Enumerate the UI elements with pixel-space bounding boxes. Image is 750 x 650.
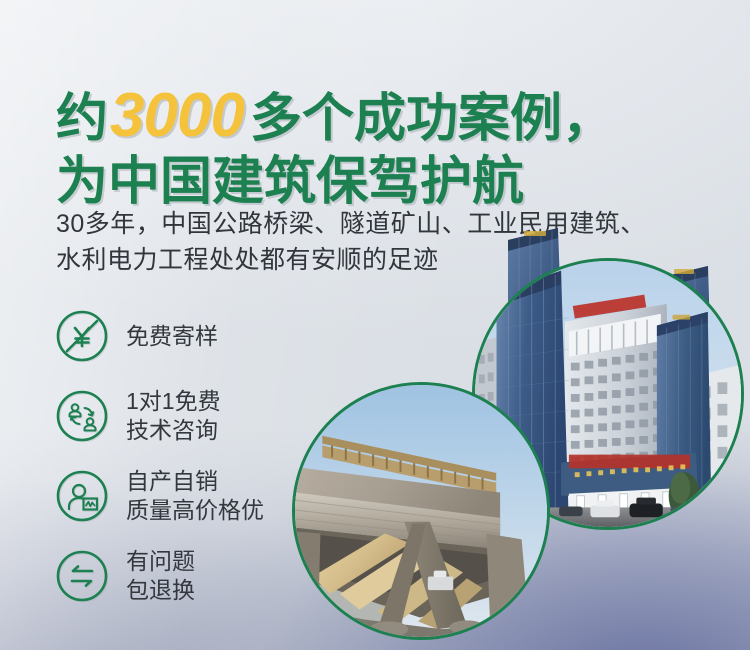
feature-label-line-2: 包退换 xyxy=(126,576,195,605)
feature-label-line-2: 质量高价格优 xyxy=(126,496,264,525)
headline-line-2: 为中国建筑保驾护航 xyxy=(56,152,716,212)
promo-banner: 约3000多个成功案例， 为中国建筑保驾护航 30多年，中国公路桥梁、隧道矿山、… xyxy=(0,0,750,650)
feature-item-free-sample: 免费寄样 xyxy=(54,296,354,376)
feature-label: 1对1免费 技术咨询 xyxy=(126,387,221,445)
self-production-sales-icon xyxy=(54,468,110,524)
feature-label-line-1: 自产自销 xyxy=(126,467,264,496)
return-exchange-icon xyxy=(54,548,110,604)
feature-label: 免费寄样 xyxy=(126,322,218,351)
headline-suffix: 多个成功案例， xyxy=(250,90,614,148)
feature-item-consultation: 1对1免费 技术咨询 xyxy=(54,376,354,456)
feature-label-line-1: 1对1免费 xyxy=(126,387,221,416)
headline-prefix: 约 xyxy=(56,90,108,148)
page-title: 约3000多个成功案例， 为中国建筑保驾护航 xyxy=(56,80,716,212)
feature-label: 有问题 包退换 xyxy=(126,547,195,605)
one-on-one-consult-icon xyxy=(54,388,110,444)
free-sample-icon xyxy=(54,308,110,364)
feature-label: 自产自销 质量高价格优 xyxy=(126,467,264,525)
headline-count-number: 3000 xyxy=(108,81,250,150)
subtitle-line-1: 30多年，中国公路桥梁、隧道矿山、工业民用建筑、 xyxy=(56,206,736,242)
feature-label-line-1: 免费寄样 xyxy=(126,323,218,349)
bridge-photo xyxy=(292,382,550,640)
headline-line-1: 约3000多个成功案例， xyxy=(56,80,716,152)
feature-label-line-1: 有问题 xyxy=(126,547,195,576)
feature-label-line-2: 技术咨询 xyxy=(126,416,221,445)
